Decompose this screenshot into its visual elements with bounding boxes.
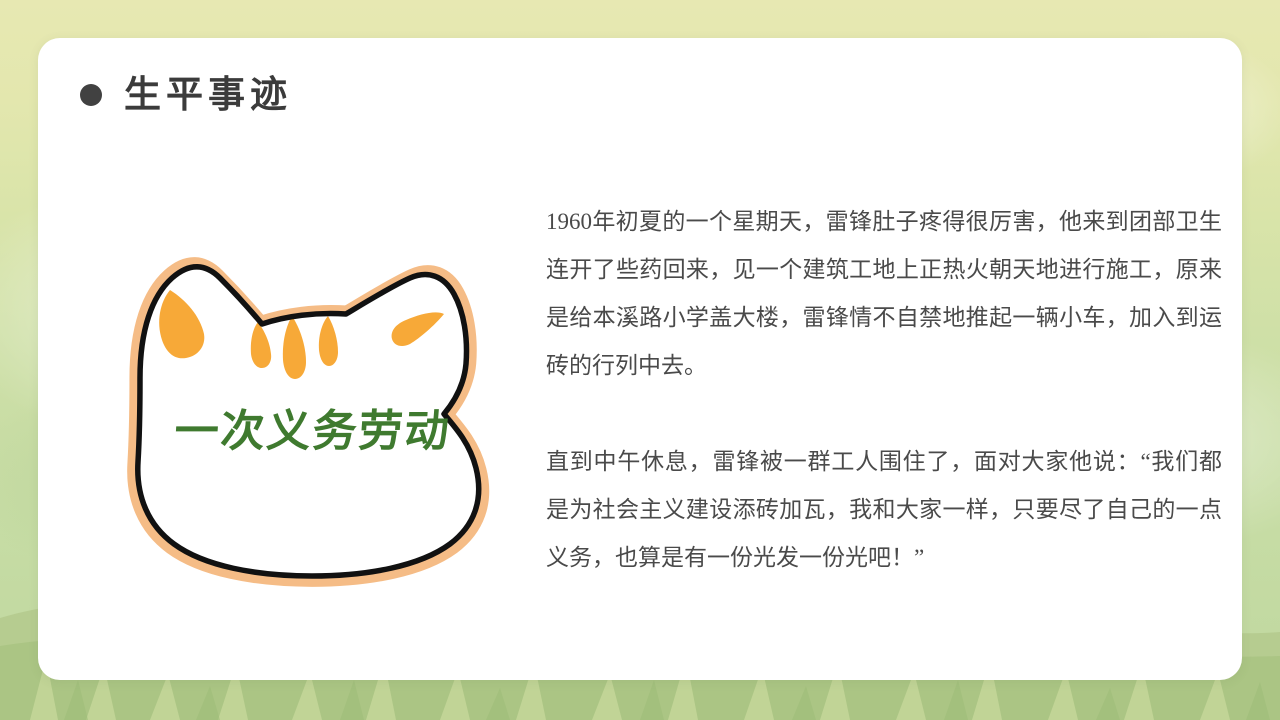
slide-canvas: 生平事迹	[0, 0, 1280, 720]
cat-head-shape	[110, 238, 510, 588]
body-copy: 1960年初夏的一个星期天，雷锋肚子疼得很厉害，他来到团部卫生连开了些药回来，见…	[546, 198, 1222, 582]
content-card: 生平事迹	[38, 38, 1242, 680]
bullet-icon	[80, 84, 102, 106]
page-title-label: 生平事迹	[124, 76, 292, 113]
cat-head-illustration: 一次义务劳动	[110, 238, 510, 588]
page-title: 生平事迹	[80, 76, 292, 113]
paragraph: 1960年初夏的一个星期天，雷锋肚子疼得很厉害，他来到团部卫生连开了些药回来，见…	[546, 198, 1222, 390]
paragraph: 直到中午休息，雷锋被一群工人围住了，面对大家他说：“我们都是为社会主义建设添砖加…	[546, 438, 1222, 582]
